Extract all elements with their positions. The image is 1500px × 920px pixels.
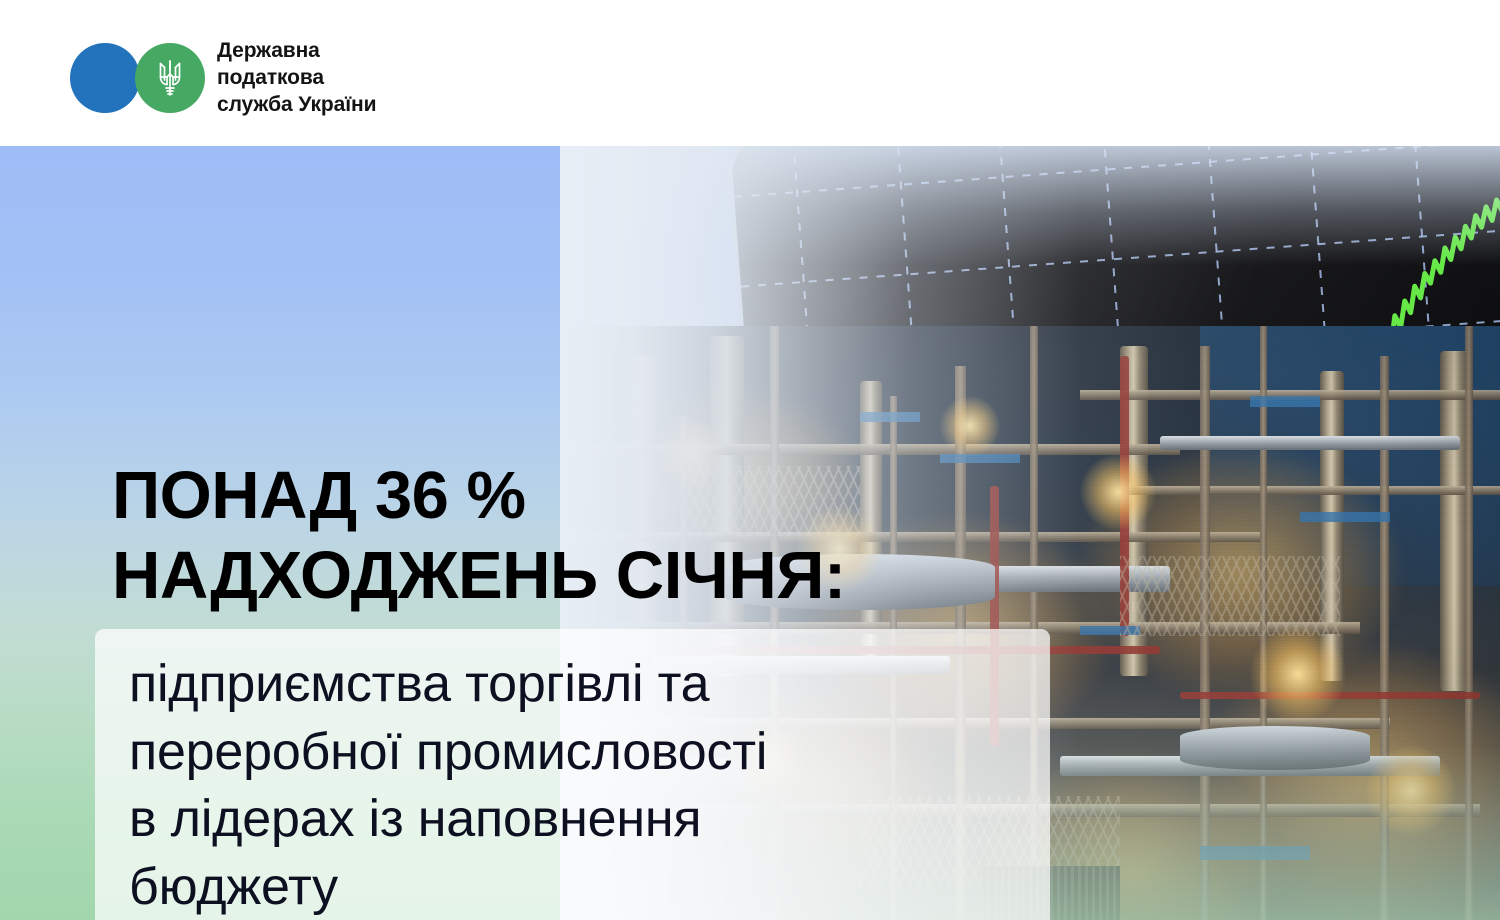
body-line-2: переробної промисловості xyxy=(129,719,1016,787)
page-headline: ПОНАД 36 % НАДХОДЖЕНЬ СІЧНЯ: xyxy=(112,456,846,617)
body-text: підприємства торгівлі та переробної пром… xyxy=(129,651,1016,920)
organization-logo: Державна податкова служба України xyxy=(70,38,376,119)
headline-line-2: НАДХОДЖЕНЬ СІЧНЯ: xyxy=(112,536,846,616)
blue-circle-icon xyxy=(70,43,140,113)
logo-text-line-1: Державна xyxy=(217,38,376,65)
logo-marks xyxy=(70,43,205,113)
background-canvas: ПОНАД 36 % НАДХОДЖЕНЬ СІЧНЯ: підприємств… xyxy=(0,146,1500,920)
header-band: Державна податкова служба України xyxy=(0,0,1500,146)
logo-text-line-2: податкова xyxy=(217,65,376,92)
body-line-4: бюджету xyxy=(129,854,1016,920)
poster-root: ПОНАД 36 % НАДХОДЖЕНЬ СІЧНЯ: підприємств… xyxy=(0,0,1500,920)
logo-text-line-3: служба України xyxy=(217,92,376,119)
logo-text: Державна податкова служба України xyxy=(217,38,376,119)
body-line-1: підприємства торгівлі та xyxy=(129,651,1016,719)
body-text-panel: підприємства торгівлі та переробної пром… xyxy=(95,629,1050,920)
headline-line-1: ПОНАД 36 % xyxy=(112,456,846,536)
tryzub-icon xyxy=(154,57,186,99)
body-line-3: в лідерах із наповнення xyxy=(129,786,1016,854)
